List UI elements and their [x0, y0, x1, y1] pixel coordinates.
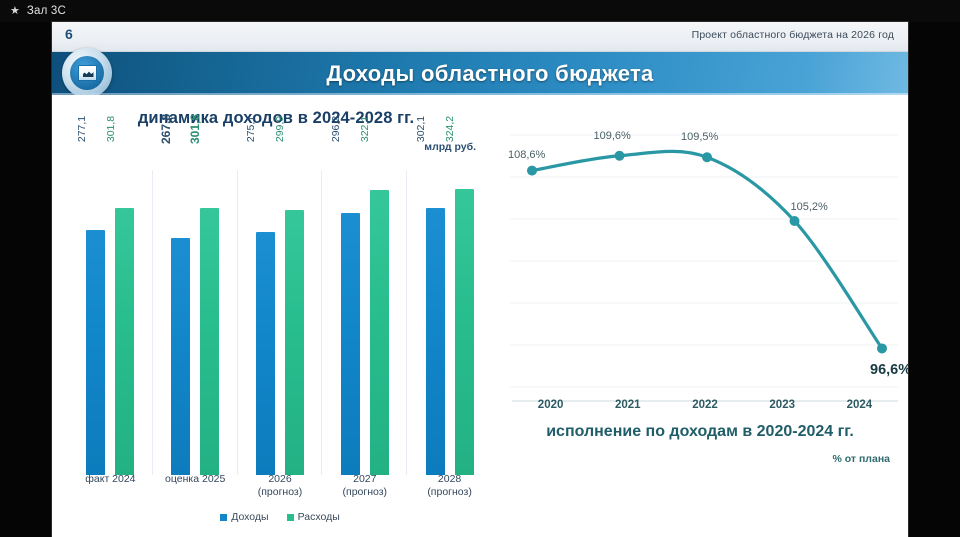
line-series-path [532, 151, 882, 348]
bar-wrap: 324,2 [455, 157, 474, 475]
line-point-label: 96,6% [870, 362, 908, 378]
bar-group: 267,8301,8 [153, 157, 238, 475]
bar-wrap: 267,8 [171, 157, 190, 475]
bar-plot: 277,1301,8267,8301,8275,1299,9296,2322,1… [68, 157, 492, 475]
page-title: Доходы областного бюджета [52, 61, 908, 87]
bar-income: 275,1 [256, 232, 275, 475]
bar-x-label: факт 2024 [68, 473, 153, 501]
bar-wrap: 296,2 [341, 157, 360, 475]
bar-wrap: 275,1 [256, 157, 275, 475]
presentation-slide: 6 Проект областного бюджета на 2026 год … [52, 22, 908, 537]
bar-group: 275,1299,9 [238, 157, 323, 475]
emblem-inner [70, 56, 104, 90]
bar-expense: 299,9 [285, 210, 304, 475]
bar-wrap: 299,9 [285, 157, 304, 475]
line-x-label: 2022 [666, 399, 743, 419]
line-point-label: 108,6% [508, 149, 545, 161]
legend-swatch-income [220, 514, 227, 521]
legend-label-expense: Расходы [298, 511, 340, 523]
line-data-point [790, 216, 800, 226]
bar-wrap: 322,1 [370, 157, 389, 475]
legend-item-income: Доходы [220, 511, 268, 523]
line-data-point [527, 166, 537, 176]
bar-value-label: 267,8 [167, 140, 181, 170]
regional-emblem-icon [62, 48, 112, 98]
bar-wrap: 301,8 [200, 157, 219, 475]
screen: ★ Зал 3С 6 Проект областного бюджета на … [0, 0, 960, 537]
line-point-label: 109,5% [681, 131, 718, 143]
bar-value-label: 301,8 [196, 140, 210, 170]
slide-title-band: Доходы областного бюджета [52, 52, 908, 95]
line-chart-svg [506, 109, 904, 409]
line-x-label: 2023 [744, 399, 821, 419]
bar-value-label: 301,8 [113, 142, 125, 168]
bar-expense: 324,2 [455, 189, 474, 475]
legend-item-expense: Расходы [287, 511, 340, 523]
bar-x-axis: факт 2024оценка 20252026(прогноз)2027(пр… [68, 473, 492, 501]
bar-wrap: 301,8 [115, 157, 134, 475]
bar-value-label: 324,2 [452, 142, 464, 168]
bar-chart-legend: Доходы Расходы [68, 511, 492, 523]
slide-header: 6 Проект областного бюджета на 2026 год [52, 22, 908, 52]
line-point-label: 109,6% [594, 130, 631, 142]
bar-x-label: 2026(прогноз) [238, 473, 323, 501]
line-chart-unit: % от плана [833, 453, 891, 465]
line-x-axis: 20202021202220232024 [512, 399, 898, 419]
legend-swatch-expense [287, 514, 294, 521]
bar-chart-panel: динамика доходов в 2024-2028 гг. млрд ру… [52, 95, 500, 537]
line-point-label: 105,2% [791, 201, 828, 213]
slide-body: динамика доходов в 2024-2028 гг. млрд ру… [52, 95, 908, 537]
line-chart-panel: 20202021202220232024 108,6%109,6%109,5%1… [500, 95, 908, 537]
bar-group: 296,2322,1 [322, 157, 407, 475]
emblem-shield [78, 65, 97, 81]
bar-group: 277,1301,8 [68, 157, 153, 475]
bar-income: 267,8 [171, 238, 190, 475]
bar-value-label: 296,2 [338, 142, 350, 168]
star-icon: ★ [10, 6, 20, 17]
line-x-label: 2021 [589, 399, 666, 419]
bar-expense: 322,1 [370, 190, 389, 475]
bar-x-label: 2027(прогноз) [322, 473, 407, 501]
line-data-point [877, 343, 887, 353]
bar-income: 296,2 [341, 213, 360, 475]
bar-value-label: 277,1 [84, 142, 96, 168]
bar-chart-area: 277,1301,8267,8301,8275,1299,9296,2322,1… [68, 157, 492, 521]
bar-group: 302,1324,2 [407, 157, 492, 475]
bar-x-label: 2028(прогноз) [407, 473, 492, 501]
line-x-label: 2020 [512, 399, 589, 419]
bar-income: 277,1 [86, 230, 105, 475]
page-number: 6 [65, 26, 73, 42]
bar-value-label: 275,1 [253, 142, 265, 168]
bar-x-label: оценка 2025 [153, 473, 238, 501]
bar-wrap: 302,1 [426, 157, 445, 475]
bar-expense: 301,8 [115, 208, 134, 475]
bar-wrap: 277,1 [86, 157, 105, 475]
stream-topbar: ★ Зал 3С [0, 0, 960, 22]
bar-income: 302,1 [426, 208, 445, 475]
line-chart-caption: исполнение по доходам в 2020-2024 гг. [500, 423, 900, 441]
line-x-label: 2024 [821, 399, 898, 419]
legend-label-income: Доходы [231, 511, 268, 523]
bar-value-label: 299,9 [282, 142, 294, 168]
line-data-point [615, 151, 625, 161]
line-data-point [702, 152, 712, 162]
line-chart-area: 20202021202220232024 108,6%109,6%109,5%1… [506, 109, 904, 429]
bar-value-label: 302,1 [423, 142, 435, 168]
room-label: Зал 3С [27, 5, 66, 17]
bar-value-label: 322,1 [367, 142, 379, 168]
slide-header-subtitle: Проект областного бюджета на 2026 год [692, 29, 894, 41]
bar-expense: 301,8 [200, 208, 219, 475]
